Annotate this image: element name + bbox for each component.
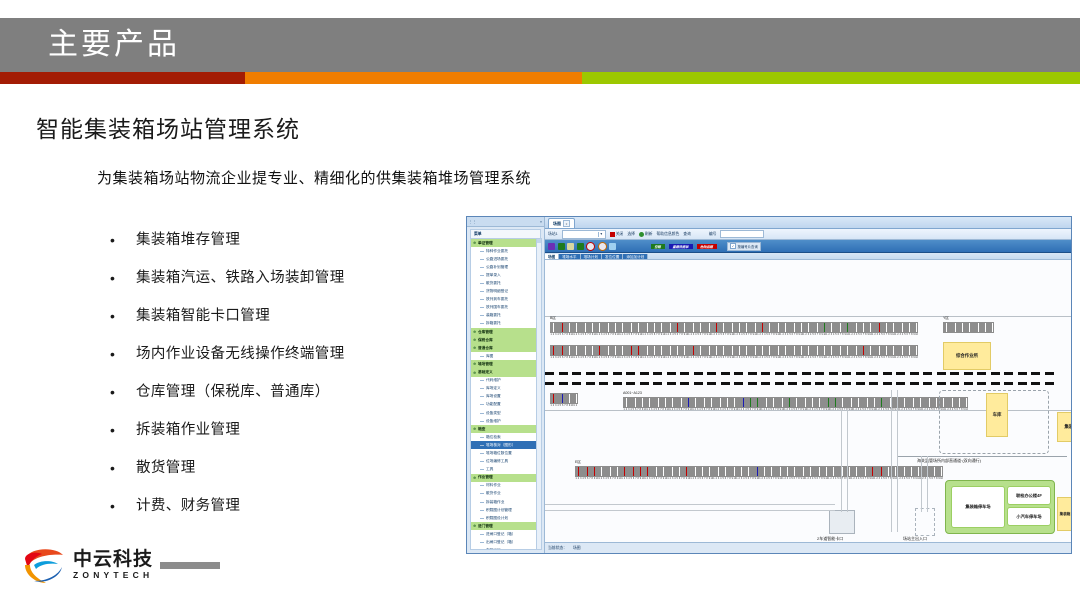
tree-item-label: 出闸口登记（箱）: [486, 540, 516, 545]
application-screenshot: ⋮⋮ « 菜单 ⊕单证管理特种作业委托公路进场委托公路补划管理提单录入散货委托货…: [466, 216, 1072, 554]
refresh-icon: [639, 232, 644, 237]
list-item-label: 集装箱堆存管理: [136, 230, 240, 250]
tree-item[interactable]: 铁列到车委托: [471, 296, 541, 304]
status-value: 场图: [573, 546, 581, 551]
tree-item[interactable]: 箱位检索: [471, 433, 541, 441]
sidebar-header: ⋮⋮ «: [467, 217, 544, 227]
row-label-y: Y区: [943, 316, 949, 321]
building-container-depot: 集装箱: [1057, 412, 1071, 442]
tree-item[interactable]: 材料作业: [471, 482, 541, 490]
tree-item[interactable]: 装箱委托: [471, 312, 541, 320]
list-item: • 散货管理: [110, 458, 470, 496]
list-item-label: 仓库管理（保税库、普通库）: [136, 382, 330, 402]
smart-gate-2lane: [829, 510, 855, 534]
main-entrance-gate: [915, 508, 935, 536]
tree-item-label: 箱位检索: [486, 435, 501, 440]
tree-group[interactable]: ⊕仓库管理: [471, 328, 541, 336]
zoom-in-icon[interactable]: [586, 242, 595, 251]
tree-item[interactable]: 出闸口登记（箱）: [471, 538, 541, 546]
slide-header-title: 主要产品: [48, 24, 180, 66]
refresh-icon[interactable]: [609, 243, 616, 250]
tree-item[interactable]: 散货委托: [471, 279, 541, 287]
tree-item-label: 特种作业委托: [486, 249, 508, 254]
status-bar: 当前状态： 场图: [545, 542, 1071, 553]
tree-item-label: 代码维护: [486, 378, 501, 383]
car-parking-lot: 小汽车停车场: [1007, 507, 1051, 526]
bullet-marker-icon: •: [110, 420, 136, 440]
tree-item-label: 材料作业: [486, 483, 501, 488]
list-item-label: 计费、财务管理: [136, 496, 240, 516]
status-label: 当前状态：: [548, 546, 567, 551]
tree-item-label: 基础定义: [478, 370, 493, 375]
list-item: • 计费、财务管理: [110, 496, 470, 534]
tree-item[interactable]: 堆场箱位数位置: [471, 449, 541, 457]
cursor-icon[interactable]: [548, 243, 555, 250]
bullet-marker-icon: •: [110, 344, 136, 364]
legend-full-container: 重箱待提单: [669, 244, 693, 249]
collapse-icon[interactable]: «: [540, 220, 542, 224]
tree-item[interactable]: 库图: [471, 352, 541, 360]
tree-item-label: 拆箱委托: [486, 321, 501, 326]
app-main-pane: 场图 × 场站1 ▾ 关闭 选择 刷新 帮助信息颜色 查询 编号 空箱: [545, 217, 1071, 553]
tree-item-label: 装箱委托: [486, 313, 501, 318]
close-button[interactable]: 关闭: [610, 232, 624, 237]
tree-item[interactable]: 车辆运行: [471, 547, 541, 550]
logo-en-text: ZONYTECH: [73, 569, 153, 581]
list-item-label: 拆装箱作业管理: [136, 420, 240, 440]
tree-item-label: 普通仓库: [478, 346, 493, 351]
tree-group[interactable]: ⊕进门管理: [471, 522, 541, 530]
tree-item-label: 铁列到车委托: [486, 297, 508, 302]
bullet-marker-icon: •: [110, 268, 136, 288]
main-road-dashes-upper: [545, 372, 1071, 375]
tree-item[interactable]: 位场编修工具: [471, 458, 541, 466]
accent-segment-orange: [245, 72, 582, 84]
tree-item-label: 堆场管理: [478, 362, 493, 367]
tree-group[interactable]: ⊕普通仓库: [471, 344, 541, 352]
tree-item-label: 铁列国车委托: [486, 305, 508, 310]
select-button[interactable]: 选择: [627, 232, 635, 237]
list-item-label: 集装箱汽运、铁路入场装卸管理: [136, 268, 345, 288]
tree-item[interactable]: 拆装箱作业: [471, 498, 541, 506]
accent-bar: [0, 72, 1080, 84]
tree-item[interactable]: 铁列国车委托: [471, 304, 541, 312]
row-label-lower: E区: [575, 460, 581, 465]
tree-item[interactable]: 公路进场委托: [471, 255, 541, 263]
tree-item-label: 公路补划管理: [486, 265, 508, 270]
tree-item[interactable]: 货物明细登记: [471, 288, 541, 296]
tree-item-label: 设备维护: [486, 419, 501, 424]
app-sidebar: ⋮⋮ « 菜单 ⊕单证管理特种作业委托公路进场委托公路补划管理提单录入散货委托货…: [467, 217, 545, 553]
search-input[interactable]: [720, 230, 764, 238]
tree-item-label: 进闸口登记（箱）: [486, 532, 516, 537]
tree-group[interactable]: ⊕基础定义: [471, 369, 541, 377]
inspection-office-building: 联检办公楼4F: [1007, 486, 1051, 505]
bullet-marker-icon: •: [110, 230, 136, 250]
tree-item-label: 车辆运行: [486, 548, 501, 550]
tree-item-label: 工具: [486, 467, 493, 472]
tree-item-label: 库场定义: [486, 386, 501, 391]
logo-accent-bar: [160, 562, 220, 569]
zonytech-emblem-icon: [22, 545, 66, 585]
tree-item-label: 散货作业: [486, 491, 501, 496]
tree-item-label: 仓库管理: [478, 330, 493, 335]
tree-item-label: 设备类型: [486, 411, 501, 416]
tree-item-label: 拆装箱作业: [486, 500, 504, 505]
tree-item[interactable]: 散货作业: [471, 490, 541, 498]
tab-bar: 场图 ×: [545, 217, 1071, 229]
tree-item-label: 堆场箱位数位置: [486, 451, 512, 456]
save-icon[interactable]: [567, 243, 574, 250]
tab-label: 场图: [553, 221, 561, 227]
list-item: • 集装箱汽运、铁路入场装卸管理: [110, 268, 470, 306]
refresh-button[interactable]: 刷新: [639, 232, 653, 237]
list-item-label: 场内作业设备无线操作终端管理: [136, 344, 345, 364]
close-icon: [610, 232, 615, 237]
tree-item[interactable]: 积载图计划管理: [471, 506, 541, 514]
chevron-down-icon[interactable]: ▾: [598, 232, 604, 237]
fill-icon[interactable]: [577, 243, 584, 250]
building-comprehensive-workshop: 综合作业所: [943, 342, 991, 370]
tree-item-label: 箱查: [478, 427, 485, 432]
building-inspection: 集装箱: [1057, 497, 1071, 531]
bullet-marker-icon: •: [110, 458, 136, 478]
tree-item[interactable]: 拆箱委托: [471, 320, 541, 328]
yard-field-label: 场站1: [548, 232, 558, 237]
checkbox-check-icon: ✓: [730, 243, 736, 249]
customs-corridor-box: [939, 390, 1049, 454]
feature-bullet-list: • 集装箱堆存管理 • 集装箱汽运、铁路入场装卸管理 • 集装箱智能卡口管理 •…: [110, 230, 470, 534]
tree-item-label: 货物明细登记: [486, 289, 508, 294]
tree-item[interactable]: 工具: [471, 466, 541, 474]
graphic-toolbar: 空箱 重箱待提单 危险品箱 ✓ 按编号片查询: [545, 240, 1071, 253]
tree-item-label: 库场设置: [486, 394, 501, 399]
list-item: • 仓库管理（保税库、普通库）: [110, 382, 470, 420]
tree-group[interactable]: ⊕保税仓库: [471, 336, 541, 344]
tree-item[interactable]: 特种作业委托: [471, 247, 541, 255]
row-label-b: B区: [550, 316, 556, 321]
tree-item[interactable]: 功能配置: [471, 401, 541, 409]
tree-item[interactable]: 进闸口登记（箱）: [471, 530, 541, 538]
tree-item-label: 库图: [486, 354, 493, 359]
status-legend: 空箱 重箱待提单 危险品箱: [651, 244, 717, 249]
tree-scrollbar[interactable]: [536, 239, 541, 549]
tree-item[interactable]: 设备类型: [471, 409, 541, 417]
navigation-tree[interactable]: ⊕单证管理特种作业委托公路进场委托公路补划管理提单录入散货委托货物明细登记铁列到…: [470, 238, 542, 550]
tree-group[interactable]: ⊕作业管理: [471, 474, 541, 482]
company-logo: 中云科技 ZONYTECH: [22, 545, 153, 585]
bullet-marker-icon: •: [110, 496, 136, 516]
tree-item-label: 公路进场委托: [486, 257, 508, 262]
tree-item-label: 积载图计划管理: [486, 508, 512, 513]
list-item: • 拆装箱作业管理: [110, 420, 470, 458]
tree-item-label: 功能配置: [486, 402, 501, 407]
tree-item[interactable]: 库场定义: [471, 385, 541, 393]
rect-icon[interactable]: [558, 243, 565, 250]
tree-group[interactable]: ⊕堆场管理: [471, 360, 541, 368]
tree-item-label: 位场编修工具: [486, 459, 508, 464]
tree-item-label: 进门管理: [478, 524, 493, 529]
tree-group[interactable]: ⊕单证管理: [471, 239, 541, 247]
tree-item[interactable]: 设备维护: [471, 417, 541, 425]
list-item-label: 散货管理: [136, 458, 196, 478]
accent-segment-red: [0, 72, 245, 84]
tree-item-label: 提单录入: [486, 273, 501, 278]
yard-select[interactable]: ▾: [562, 230, 606, 239]
tab-yard-map[interactable]: 场图 ×: [548, 218, 575, 228]
list-item: • 集装箱堆存管理: [110, 230, 470, 268]
tree-item-label: 堆场核对（图形）: [486, 443, 516, 448]
filter-checkbox[interactable]: ✓ 按编号片查询: [727, 242, 761, 251]
filter-checkbox-label: 按编号片查询: [738, 244, 758, 249]
tree-item[interactable]: 堆场核对（图形）: [471, 441, 541, 449]
tree-group[interactable]: ⊕箱查: [471, 425, 541, 433]
tree-item-label: 保税仓库: [478, 338, 493, 343]
list-item: • 集装箱智能卡口管理: [110, 306, 470, 344]
bullet-marker-icon: •: [110, 382, 136, 402]
command-bar: 场站1 ▾ 关闭 选择 刷新 帮助信息颜色 查询 编号: [545, 229, 1071, 240]
legend-info-button[interactable]: 帮助信息颜色: [657, 232, 680, 237]
tree-item-label: 作业管理: [478, 475, 493, 480]
query-button[interactable]: 查询: [683, 232, 691, 237]
tree-item-label: 散货委托: [486, 281, 501, 286]
main-road-dashes-lower: [545, 382, 1071, 385]
legend-danger-container: 危险品箱: [697, 244, 717, 249]
list-item: • 场内作业设备无线操作终端管理: [110, 344, 470, 382]
yard-map-canvas[interactable]: B区 1234567891012345678910123456789101234…: [545, 259, 1071, 543]
close-icon[interactable]: ×: [563, 220, 570, 227]
logo-cn-text: 中云科技: [73, 550, 153, 569]
tree-item-label: 单证管理: [478, 241, 493, 246]
search-field-label: 编号: [709, 232, 717, 237]
accent-segment-green: [582, 72, 1080, 84]
tree-item[interactable]: 公路补划管理: [471, 263, 541, 271]
tree-item[interactable]: 积载图设计划: [471, 514, 541, 522]
tree-item[interactable]: 代码维护: [471, 377, 541, 385]
page-subtitle: 为集装箱场站物流企业提专业、精细化的供集装箱堆场管理系统: [97, 167, 531, 188]
zoom-out-icon[interactable]: [598, 242, 607, 251]
logo-wordmark: 中云科技 ZONYTECH: [73, 550, 153, 581]
tree-item[interactable]: 提单录入: [471, 271, 541, 279]
container-parking-lot: 集装箱停车场: [951, 486, 1005, 528]
page-title: 智能集装箱场站管理系统: [36, 110, 300, 144]
sidebar-dots-icon: ⋮⋮: [469, 220, 476, 224]
bullet-marker-icon: •: [110, 306, 136, 326]
legend-empty-container: 空箱: [651, 244, 665, 249]
row-label-a: A001~A123: [623, 391, 642, 395]
list-item-label: 集装箱智能卡口管理: [136, 306, 270, 326]
tree-item[interactable]: 库场设置: [471, 393, 541, 401]
tree-item-label: 积载图设计划: [486, 516, 508, 521]
